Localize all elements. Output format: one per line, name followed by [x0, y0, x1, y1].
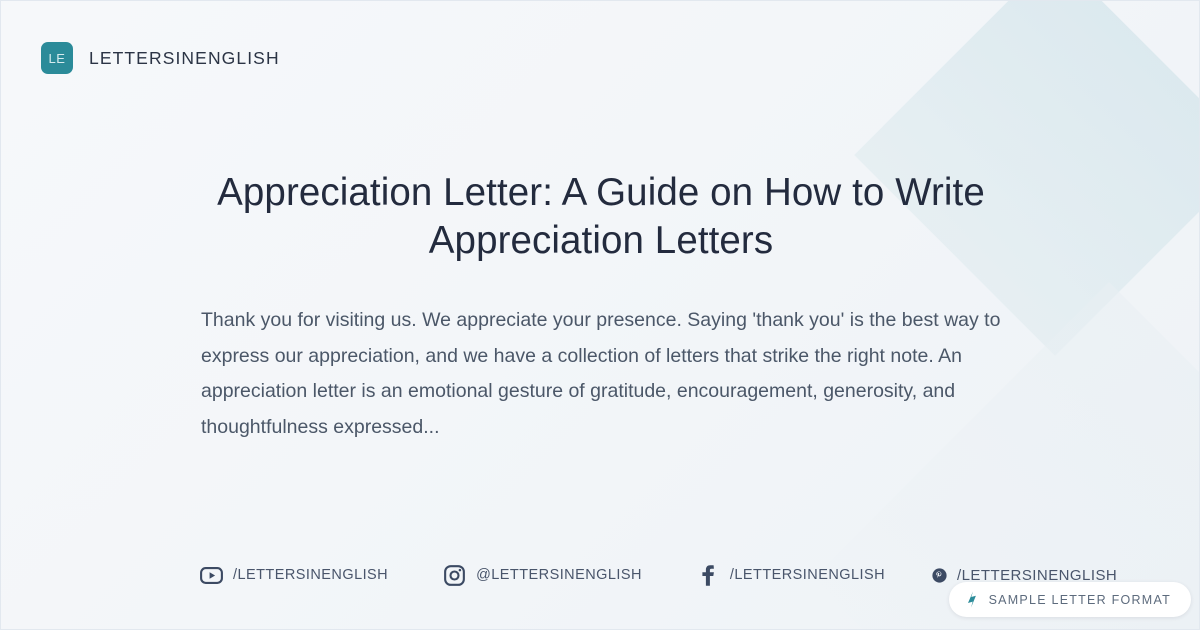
- article-excerpt: Thank you for visiting us. We appreciate…: [201, 303, 1001, 445]
- instagram-icon: [442, 563, 466, 587]
- brand-mark-text: LE: [49, 51, 66, 66]
- youtube-icon: [199, 563, 223, 587]
- social-link-facebook[interactable]: /LETTERSINENGLISH: [696, 563, 885, 587]
- social-share-card: LE LETTERSINENGLISH Appreciation Letter:…: [0, 0, 1200, 630]
- status-badge-label: SAMPLE LETTER FORMAT: [989, 593, 1171, 607]
- status-badge[interactable]: SAMPLE LETTER FORMAT: [949, 582, 1191, 617]
- pinterest-icon: [931, 567, 947, 583]
- facebook-icon: [696, 563, 720, 587]
- social-link-instagram[interactable]: @LETTERSINENGLISH: [442, 563, 642, 587]
- social-link-youtube[interactable]: /LETTERSINENGLISH: [199, 563, 388, 587]
- social-handle-pinterest: /LETTERSINENGLISH: [957, 567, 1117, 584]
- card-content: Appreciation Letter: A Guide on How to W…: [1, 169, 1200, 445]
- brand-logo[interactable]: LE LETTERSINENGLISH: [41, 42, 280, 74]
- brand-name: LETTERSINENGLISH: [89, 48, 280, 69]
- lightning-bolt-icon: [965, 591, 980, 608]
- social-handle-instagram: @LETTERSINENGLISH: [476, 567, 642, 583]
- page-title: Appreciation Letter: A Guide on How to W…: [177, 169, 1025, 265]
- social-handle-facebook: /LETTERSINENGLISH: [730, 567, 885, 583]
- brand-mark-icon: LE: [41, 42, 73, 74]
- social-link-pinterest[interactable]: /LETTERSINENGLISH: [931, 567, 1117, 584]
- social-handle-youtube: /LETTERSINENGLISH: [233, 567, 388, 583]
